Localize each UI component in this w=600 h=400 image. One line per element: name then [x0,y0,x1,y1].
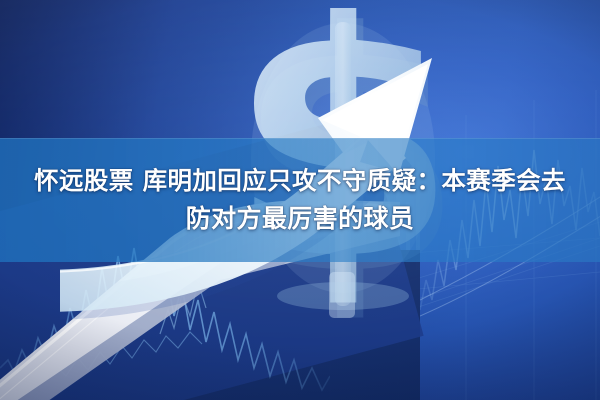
headline-block: 怀远股票 库明加回应只攻不守质疑：本赛季会去 防对方最厉害的球员 [0,138,600,262]
stock-news-banner: $ $ [0,0,600,400]
headline-line-2: 防对方最厉害的球员 [186,203,415,235]
headline-line-1: 怀远股票 库明加回应只攻不守质疑：本赛季会去 [34,166,566,197]
